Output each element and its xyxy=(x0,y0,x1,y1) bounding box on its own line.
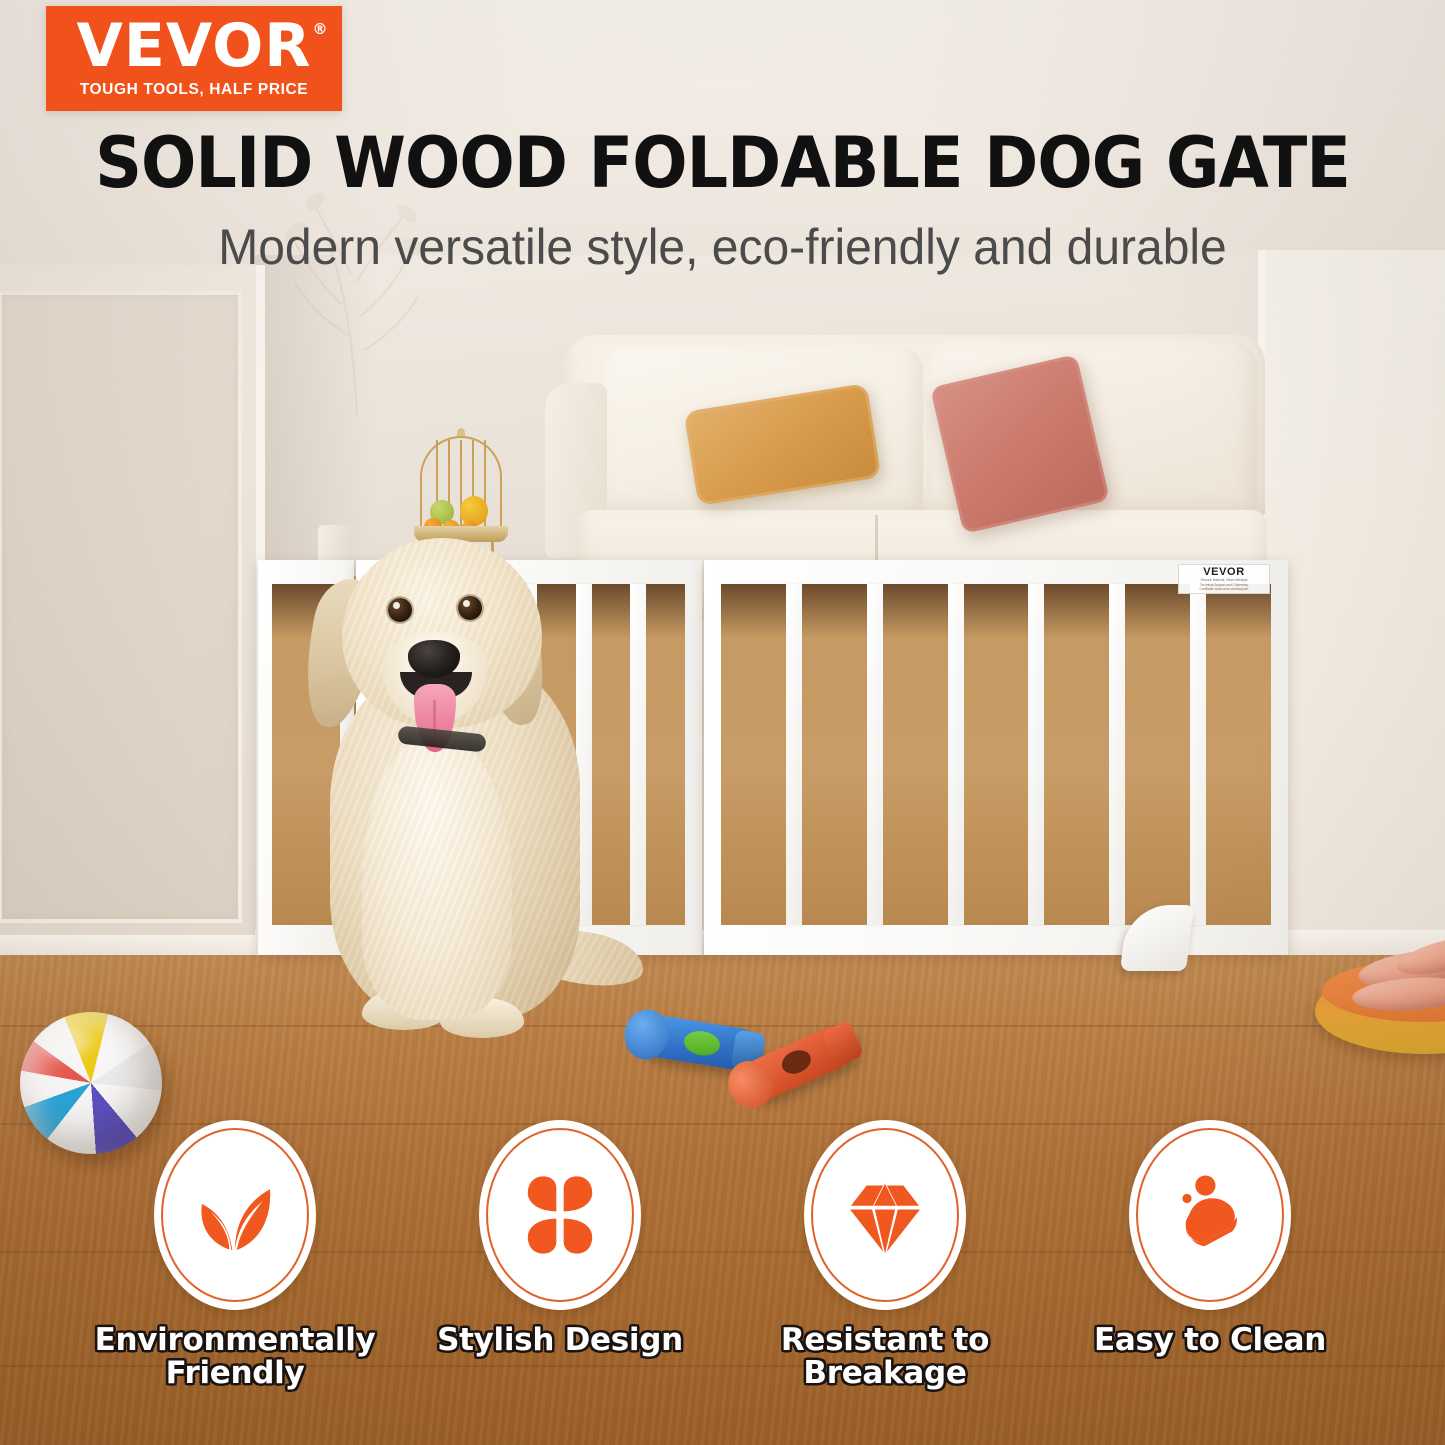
feature-label-line1: Stylish Design xyxy=(437,1324,683,1357)
badge-circle xyxy=(804,1120,966,1310)
feature-environmentally-friendly: Environmentally Friendly xyxy=(103,1120,368,1390)
feature-stylish-design: Stylish Design xyxy=(428,1120,693,1357)
label-line3: Certificate www.vevor.com/support xyxy=(1200,588,1249,591)
feature-badge-row: Environmentally Friendly Stylish Design xyxy=(0,1120,1445,1445)
product-marketing-image: VEVOR Secure Natural, New Lifestyle Tech… xyxy=(0,0,1445,1445)
vevor-logo: VEVOR ® TOUGH TOOLS, HALF PRICE xyxy=(46,6,342,111)
gate-slat xyxy=(1190,584,1206,925)
feature-label: Resistant to Breakage xyxy=(781,1324,989,1390)
feature-label: Stylish Design xyxy=(437,1324,683,1357)
four-petal-flower-icon xyxy=(514,1169,606,1261)
feature-label-line1: Environmentally xyxy=(95,1324,376,1357)
toy-green-accent xyxy=(682,1029,721,1058)
diamond-icon xyxy=(839,1169,931,1261)
golden-retriever-dog xyxy=(290,520,630,1030)
feature-label: Easy to Clean xyxy=(1094,1324,1326,1357)
dog-chest xyxy=(362,735,512,1020)
feature-easy-to-clean: Easy to Clean xyxy=(1078,1120,1343,1357)
logo-wordmark: VEVOR ® xyxy=(76,18,311,75)
wall-wainscot-left xyxy=(0,265,265,965)
logo-tagline: TOUGH TOOLS, HALF PRICE xyxy=(80,81,309,99)
feature-label-line1: Resistant to xyxy=(781,1324,989,1357)
gate-slat xyxy=(630,584,646,925)
badge-circle xyxy=(1129,1120,1291,1310)
dog-eye-left xyxy=(388,598,412,622)
logo-text: VEVOR xyxy=(76,11,311,81)
gate-panel-right-slats xyxy=(721,584,1271,925)
gate-panel-right: VEVOR Secure Natural, New Lifestyle Tech… xyxy=(704,560,1288,955)
leaf-icon xyxy=(189,1169,281,1261)
gate-slat xyxy=(1028,584,1044,925)
wall-leaf-decal xyxy=(262,170,452,420)
gate-slat xyxy=(948,584,964,925)
feature-label: Environmentally Friendly xyxy=(95,1324,376,1390)
registered-trademark-icon: ® xyxy=(313,22,329,36)
toy-hole xyxy=(778,1046,814,1078)
sponge-icon xyxy=(1164,1169,1256,1261)
feature-label-line2: Breakage xyxy=(781,1357,989,1390)
label-brand-name: VEVOR xyxy=(1203,567,1245,578)
badge-circle xyxy=(154,1120,316,1310)
page-title: SOLID WOOD FOLDABLE DOG GATE xyxy=(51,122,1395,204)
gate-slat xyxy=(1109,584,1125,925)
product-vevor-label: VEVOR Secure Natural, New Lifestyle Tech… xyxy=(1178,564,1270,594)
feature-resistant-to-breakage: Resistant to Breakage xyxy=(753,1120,1018,1390)
gate-slat xyxy=(786,584,802,925)
feature-label-line2: Friendly xyxy=(95,1357,376,1390)
wainscot-panel xyxy=(0,291,242,923)
gate-slat xyxy=(867,584,883,925)
dog-eye-right xyxy=(458,596,482,620)
page-subtitle: Modern versatile style, eco-friendly and… xyxy=(29,218,1416,276)
badge-circle xyxy=(479,1120,641,1310)
feature-label-line1: Easy to Clean xyxy=(1094,1324,1326,1357)
